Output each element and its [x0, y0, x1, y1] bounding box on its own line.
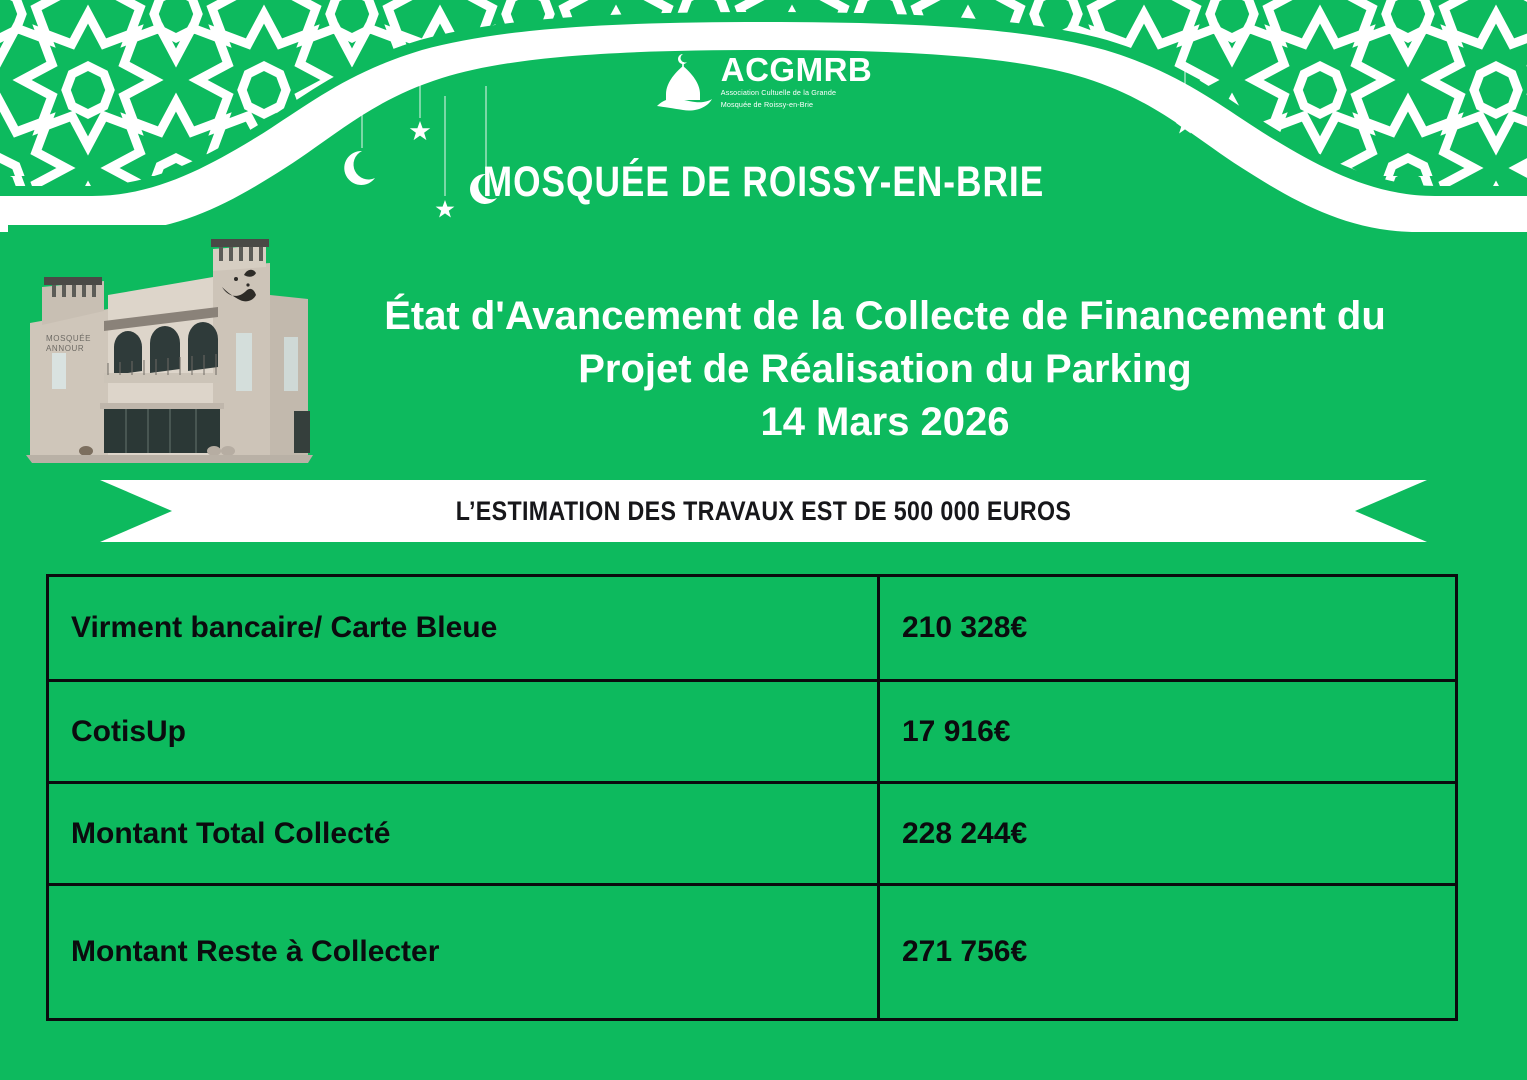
- svg-text:ANNOUR: ANNOUR: [46, 344, 84, 353]
- organization-logo: ACGMRB Association Cultuelle de la Grand…: [0, 50, 1527, 112]
- svg-text:MOSQUÉE: MOSQUÉE: [46, 334, 91, 343]
- estimate-ribbon: L’ESTIMATION DES TRAVAUX EST DE 500 000 …: [100, 480, 1427, 542]
- title-line-3: 14 Mars 2026: [330, 396, 1440, 449]
- estimate-ribbon-text: L’ESTIMATION DES TRAVAUX EST DE 500 000 …: [193, 480, 1334, 542]
- row-label: Virment bancaire/ Carte Bleue: [48, 576, 879, 681]
- row-value: 210 328€: [879, 576, 1457, 681]
- page-title: État d'Avancement de la Collecte de Fina…: [330, 290, 1440, 448]
- mosque-dome-icon: [655, 50, 713, 112]
- row-value: 271 756€: [879, 885, 1457, 1020]
- brand-name: MOSQUÉE DE ROISSY-EN-BRIE: [137, 158, 1389, 207]
- logo-subtitle-line1: Association Cultuelle de la Grande: [721, 88, 872, 97]
- logo-acronym: ACGMRB: [721, 53, 872, 86]
- collection-amounts-table: Virment bancaire/ Carte Bleue 210 328€ C…: [46, 574, 1458, 1021]
- fundraising-poster: ACGMRB Association Cultuelle de la Grand…: [0, 0, 1527, 1080]
- islamic-pattern-band: [0, 0, 1527, 250]
- table-row: CotisUp 17 916€: [48, 681, 1457, 783]
- row-label: Montant Reste à Collecter: [48, 885, 879, 1020]
- row-value: 228 244€: [879, 783, 1457, 885]
- mosque-building-photo: MOSQUÉE ANNOUR: [8, 225, 368, 475]
- title-line-1: État d'Avancement de la Collecte de Fina…: [330, 290, 1440, 343]
- row-label: CotisUp: [48, 681, 879, 783]
- row-label: Montant Total Collecté: [48, 783, 879, 885]
- logo-subtitle-line2: Mosquée de Roissy-en-Brie: [721, 100, 872, 109]
- table-row: Virment bancaire/ Carte Bleue 210 328€: [48, 576, 1457, 681]
- row-value: 17 916€: [879, 681, 1457, 783]
- table-row: Montant Reste à Collecter 271 756€: [48, 885, 1457, 1020]
- title-line-2: Projet de Réalisation du Parking: [330, 343, 1440, 396]
- table-row: Montant Total Collecté 228 244€: [48, 783, 1457, 885]
